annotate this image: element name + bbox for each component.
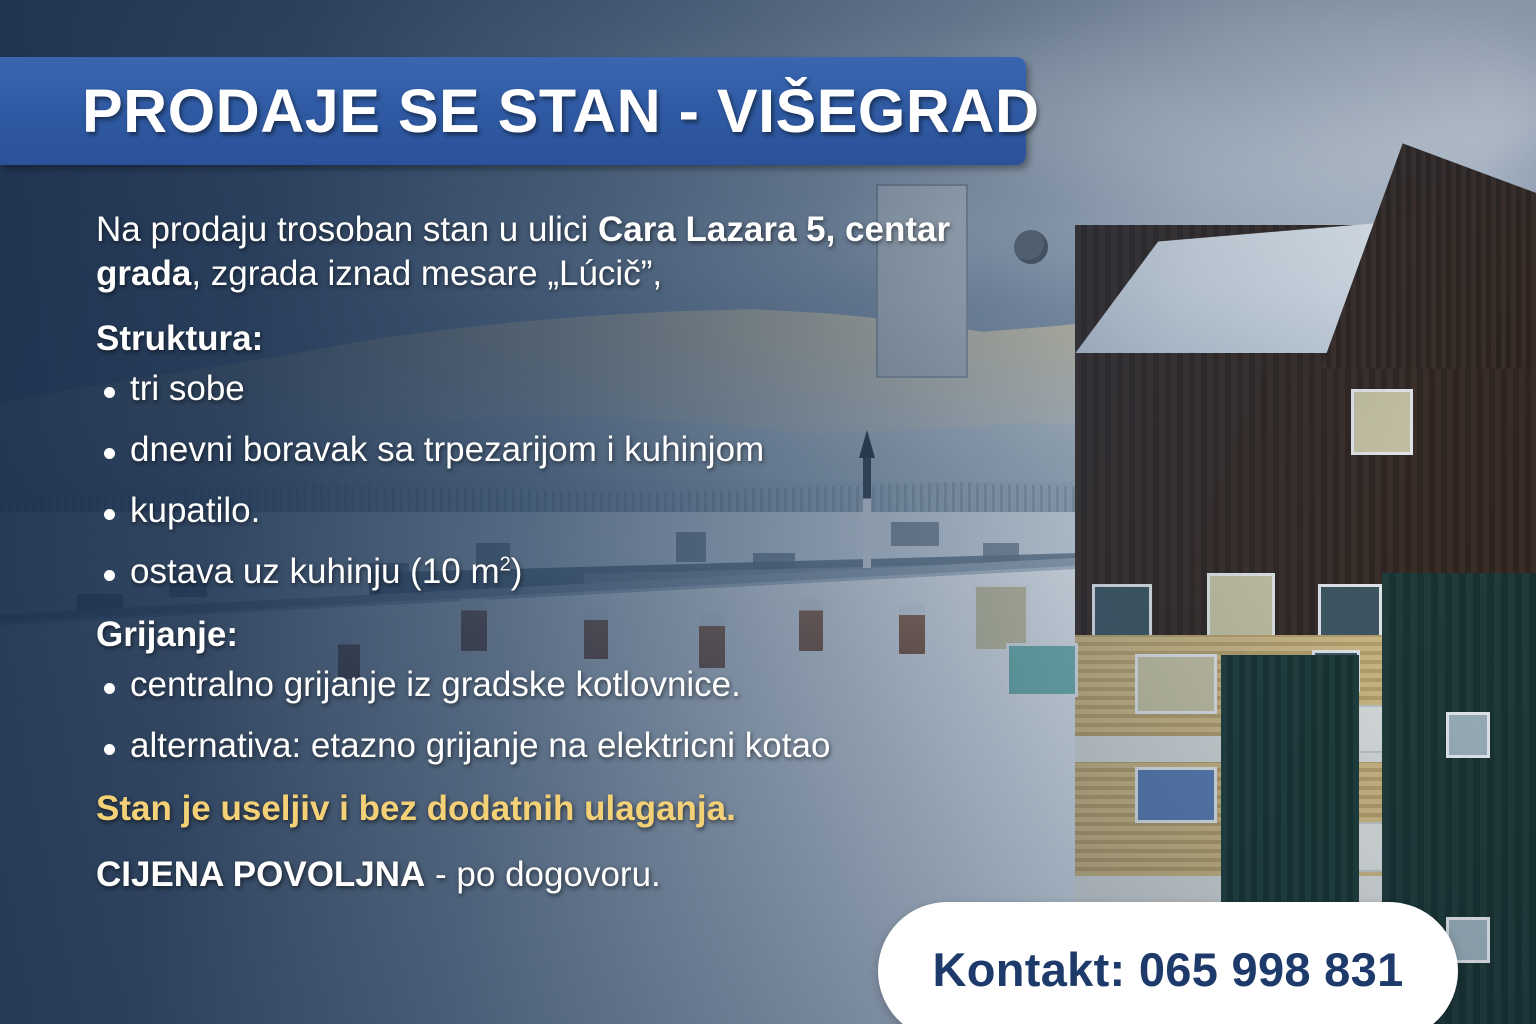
intro-lead-text: Na prodaju trosoban stan u ulici bbox=[96, 210, 598, 249]
contact-phone-text: Kontakt: 065 998 831 bbox=[932, 942, 1403, 997]
list-item-tail: ) bbox=[511, 552, 523, 591]
intro-tail-text: , zgrada iznad mesare „Lúcič”, bbox=[191, 254, 662, 293]
section-heading-grijanje: Grijanje: bbox=[96, 615, 1056, 655]
list-item-text: ostava uz kuhinju (10 m bbox=[130, 552, 500, 591]
list-item: ostava uz kuhinju (10 m2) bbox=[96, 554, 1056, 589]
square-meters-superscript: 2 bbox=[500, 553, 511, 575]
highlight-statement: Stan je useljiv i bez dodatnih ulaganja. bbox=[96, 789, 1056, 829]
price-statement: CIJENA POVOLJNA - po dogovoru. bbox=[96, 855, 1056, 895]
section-heading-struktura: Struktura: bbox=[96, 319, 1056, 359]
price-label: CIJENA POVOLJNA bbox=[96, 855, 425, 894]
struktura-list: tri sobe dnevni boravak sa trpezarijom i… bbox=[96, 371, 1056, 589]
intro-paragraph: Na prodaju trosoban stan u ulici Cara La… bbox=[96, 208, 996, 297]
advertisement-poster: PRODAJE SE STAN - VIŠEGRAD Na prodaju tr… bbox=[0, 0, 1536, 1024]
list-item: dnevni boravak sa trpezarijom i kuhinjom bbox=[96, 432, 1056, 467]
list-item: kupatilo. bbox=[96, 493, 1056, 528]
price-rest: - po dogovoru. bbox=[425, 855, 660, 894]
grijanje-list: centralno grijanje iz gradske kotlovnice… bbox=[96, 667, 1056, 763]
contact-badge[interactable]: Kontakt: 065 998 831 bbox=[878, 902, 1458, 1024]
list-item: alternativa: etazno grijanje na elektric… bbox=[96, 728, 1056, 763]
page-title: PRODAJE SE STAN - VIŠEGRAD bbox=[82, 76, 1040, 146]
title-banner: PRODAJE SE STAN - VIŠEGRAD bbox=[0, 57, 1026, 165]
list-item: centralno grijanje iz gradske kotlovnice… bbox=[96, 667, 1056, 702]
list-item: tri sobe bbox=[96, 371, 1056, 406]
advertisement-body: Na prodaju trosoban stan u ulici Cara La… bbox=[96, 208, 1056, 895]
